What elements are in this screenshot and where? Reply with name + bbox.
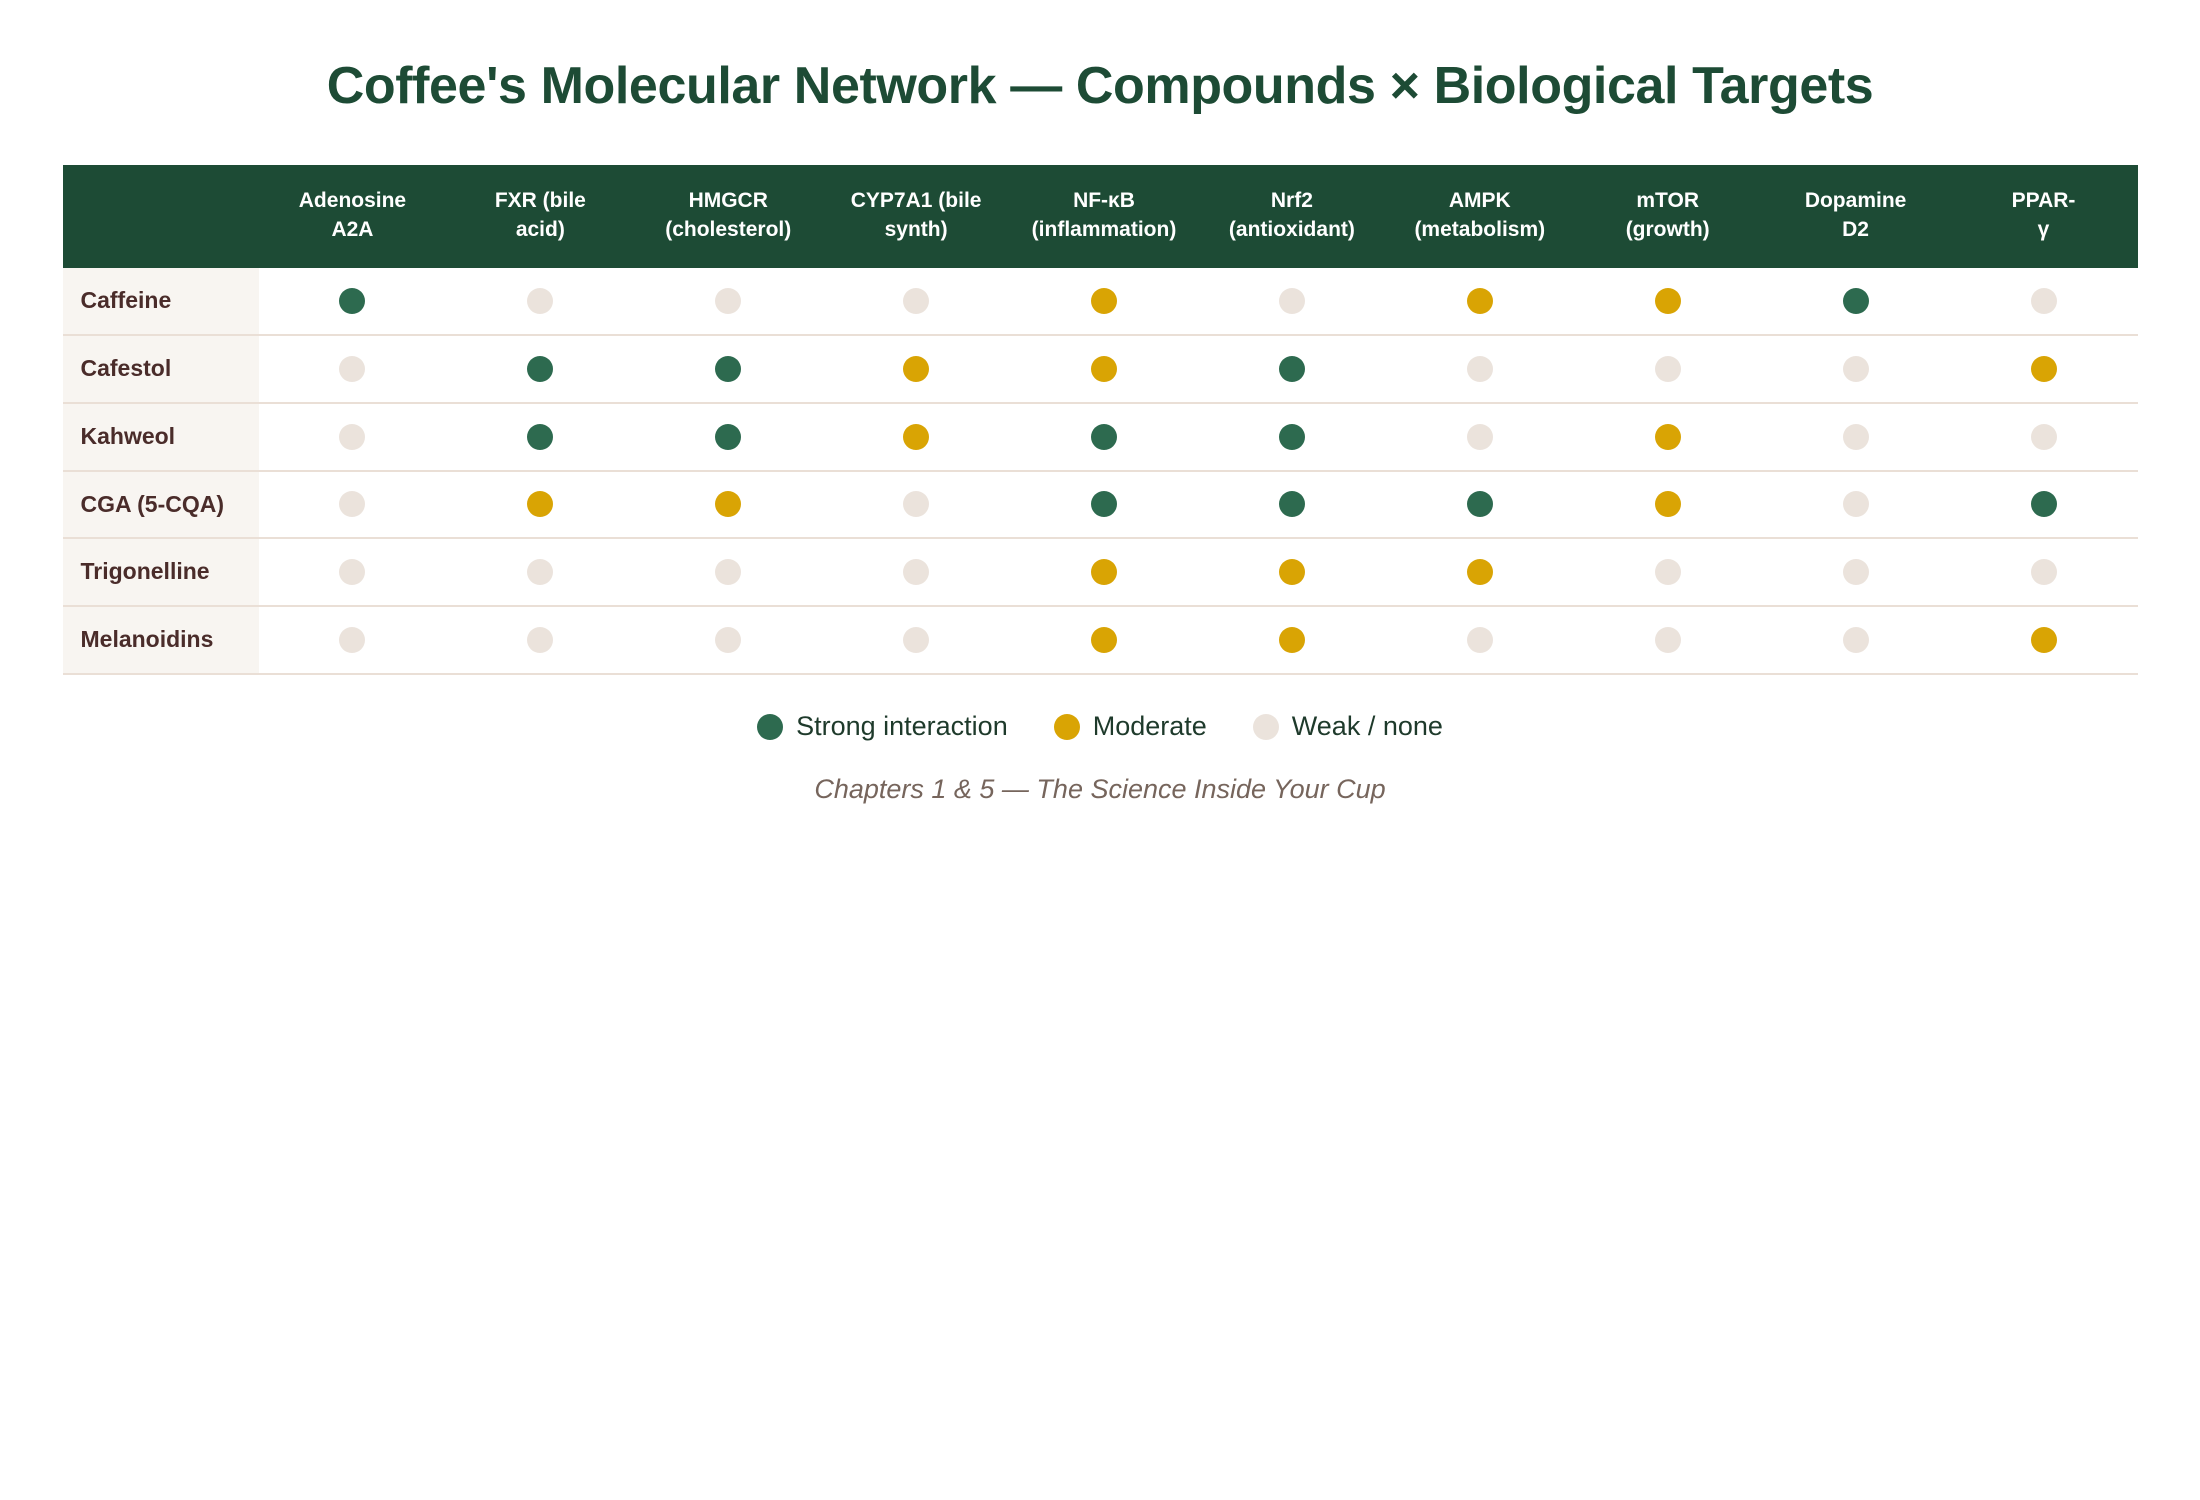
matrix-cell [1762,538,1950,606]
column-header-2: FXR (bileacid) [446,165,634,268]
matrix-cell [634,335,822,403]
interaction-dot-weak [2031,424,2057,450]
interaction-dot-moderate [1279,627,1305,653]
matrix-cell [1574,538,1762,606]
matrix-cell [446,538,634,606]
matrix-cell [1386,403,1574,471]
interaction-dot-moderate [1655,288,1681,314]
interaction-dot-weak [1843,491,1869,517]
matrix-cell [1574,403,1762,471]
interaction-dot-moderate [903,356,929,382]
header-row: AdenosineA2AFXR (bileacid)HMGCR(choleste… [63,165,2138,268]
interaction-dot-weak [715,288,741,314]
column-header-line2: (growth) [1582,216,1754,244]
matrix-cell [634,606,822,674]
matrix-cell [822,538,1010,606]
matrix-cell [634,268,822,335]
column-header-3: HMGCR(cholesterol) [634,165,822,268]
column-header-7: AMPK(metabolism) [1386,165,1574,268]
interaction-dot-moderate [1467,559,1493,585]
column-header-5: NF-κB(inflammation) [1010,165,1198,268]
interaction-dot-weak [2031,559,2057,585]
interaction-dot-moderate [2031,356,2057,382]
matrix-cell [1950,471,2138,539]
interaction-dot-strong [1279,491,1305,517]
interaction-dot-weak [2031,288,2057,314]
interaction-dot-strong [339,288,365,314]
interaction-dot-weak [1843,559,1869,585]
interaction-dot-weak [903,559,929,585]
matrix-cell [1574,335,1762,403]
legend: Strong interactionModerateWeak / none [63,711,2138,742]
page-title: Coffee's Molecular Network — Compounds ×… [0,0,2200,115]
interaction-dot-weak [1467,424,1493,450]
interaction-dot-moderate [1467,288,1493,314]
interaction-dot-weak [527,627,553,653]
matrix-cell [1950,403,2138,471]
column-header-line2: (antioxidant) [1206,216,1378,244]
interaction-dot-strong [1091,424,1117,450]
matrix-header: AdenosineA2AFXR (bileacid)HMGCR(choleste… [63,165,2138,268]
row-label-2: Cafestol [63,335,259,403]
figure-page: Coffee's Molecular Network — Compounds ×… [0,0,2200,1500]
interaction-dot-strong [527,424,553,450]
legend-item-strong: Strong interaction [757,711,1008,742]
legend-label: Moderate [1093,711,1207,742]
interaction-dot-moderate [2031,627,2057,653]
matrix-cell [259,403,447,471]
legend-swatch-weak-icon [1253,714,1279,740]
matrix-body: CaffeineCafestolKahweolCGA (5-CQA)Trigon… [63,268,2138,674]
matrix-cell [1386,268,1574,335]
matrix-container: AdenosineA2AFXR (bileacid)HMGCR(choleste… [63,115,2138,805]
interaction-dot-strong [1091,491,1117,517]
column-header-line2: (metabolism) [1394,216,1566,244]
matrix-cell [822,335,1010,403]
matrix-cell [446,606,634,674]
matrix-cell [1010,606,1198,674]
interaction-dot-weak [339,627,365,653]
matrix-cell [1574,268,1762,335]
matrix-cell [1950,335,2138,403]
table-row: Caffeine [63,268,2138,335]
matrix-cell [1010,268,1198,335]
matrix-cell [1386,335,1574,403]
matrix-cell [259,335,447,403]
matrix-cell [1198,606,1386,674]
column-header-line1: Nrf2 [1206,187,1378,215]
column-header-line2: γ [1958,216,2130,244]
interaction-dot-strong [2031,491,2057,517]
column-header-line1: Adenosine [267,187,439,215]
interaction-dot-weak [715,627,741,653]
matrix-cell [446,335,634,403]
interaction-dot-strong [715,424,741,450]
column-header-line2: acid) [454,216,626,244]
matrix-cell [1574,471,1762,539]
column-header-10: PPAR-γ [1950,165,2138,268]
interaction-dot-weak [339,356,365,382]
row-label-3: Kahweol [63,403,259,471]
interaction-dot-weak [1843,356,1869,382]
matrix-cell [1010,335,1198,403]
matrix-cell [822,268,1010,335]
matrix-cell [1762,335,1950,403]
matrix-cell [1010,403,1198,471]
interaction-dot-moderate [1091,288,1117,314]
matrix-cell [1386,471,1574,539]
row-label-1: Caffeine [63,268,259,335]
interaction-dot-weak [527,559,553,585]
interaction-dot-strong [1279,424,1305,450]
column-header-line1: HMGCR [642,187,814,215]
legend-swatch-moderate-icon [1054,714,1080,740]
table-row: Cafestol [63,335,2138,403]
matrix-cell [822,606,1010,674]
interaction-dot-weak [339,559,365,585]
column-header-6: Nrf2(antioxidant) [1198,165,1386,268]
interaction-dot-strong [1843,288,1869,314]
interaction-dot-strong [1467,491,1493,517]
matrix-cell [1950,268,2138,335]
interaction-dot-strong [715,356,741,382]
interaction-dot-strong [1279,356,1305,382]
column-header-line2: A2A [267,216,439,244]
column-header-line1: CYP7A1 (bile [830,187,1002,215]
matrix-cell [1386,606,1574,674]
column-header-9: DopamineD2 [1762,165,1950,268]
interaction-dot-weak [903,491,929,517]
matrix-cell [259,471,447,539]
column-header-1: AdenosineA2A [259,165,447,268]
table-row: Trigonelline [63,538,2138,606]
legend-item-moderate: Moderate [1054,711,1207,742]
matrix-cell [1198,268,1386,335]
interaction-dot-moderate [1279,559,1305,585]
matrix-cell [446,403,634,471]
column-header-4: CYP7A1 (bilesynth) [822,165,1010,268]
figure-footnote: Chapters 1 & 5 — The Science Inside Your… [63,774,2138,805]
matrix-cell [822,403,1010,471]
column-header-line2: (cholesterol) [642,216,814,244]
matrix-cell [1010,538,1198,606]
matrix-cell [446,471,634,539]
row-label-4: CGA (5-CQA) [63,471,259,539]
column-header-line1: AMPK [1394,187,1566,215]
interaction-dot-weak [1467,627,1493,653]
interaction-dot-weak [1843,424,1869,450]
interaction-dot-moderate [1655,491,1681,517]
row-label-5: Trigonelline [63,538,259,606]
matrix-cell [1198,335,1386,403]
interaction-dot-weak [339,491,365,517]
matrix-cell [1762,606,1950,674]
matrix-cell [1198,471,1386,539]
interaction-dot-moderate [1091,627,1117,653]
interaction-dot-weak [903,627,929,653]
table-row: Kahweol [63,403,2138,471]
matrix-cell [1762,471,1950,539]
matrix-cell [446,268,634,335]
column-header-line1: FXR (bile [454,187,626,215]
interaction-dot-moderate [715,491,741,517]
matrix-cell [1198,538,1386,606]
interaction-dot-weak [527,288,553,314]
interaction-dot-moderate [527,491,553,517]
legend-label: Weak / none [1292,711,1443,742]
table-row: CGA (5-CQA) [63,471,2138,539]
interaction-dot-moderate [903,424,929,450]
interaction-dot-weak [715,559,741,585]
interaction-dot-weak [1655,559,1681,585]
column-header-line2: synth) [830,216,1002,244]
interaction-dot-weak [1655,356,1681,382]
interaction-dot-moderate [1091,356,1117,382]
table-row: Melanoidins [63,606,2138,674]
column-header-line2: D2 [1770,216,1942,244]
matrix-cell [634,538,822,606]
interaction-dot-moderate [1091,559,1117,585]
interaction-dot-moderate [1655,424,1681,450]
matrix-cell [1762,268,1950,335]
interaction-dot-strong [527,356,553,382]
interaction-dot-weak [339,424,365,450]
legend-item-weak: Weak / none [1253,711,1443,742]
interaction-dot-weak [1467,356,1493,382]
corner-cell [63,165,259,268]
matrix-cell [822,471,1010,539]
column-header-line1: mTOR [1582,187,1754,215]
interaction-dot-weak [1843,627,1869,653]
column-header-line1: NF-κB [1018,187,1190,215]
matrix-cell [1950,538,2138,606]
legend-label: Strong interaction [796,711,1008,742]
column-header-line1: PPAR- [1958,187,2130,215]
matrix-cell [1762,403,1950,471]
matrix-cell [259,538,447,606]
interaction-dot-weak [1655,627,1681,653]
column-header-line2: (inflammation) [1018,216,1190,244]
row-label-6: Melanoidins [63,606,259,674]
column-header-line1: Dopamine [1770,187,1942,215]
matrix-cell [259,606,447,674]
matrix-cell [1386,538,1574,606]
interaction-dot-weak [1279,288,1305,314]
matrix-cell [1010,471,1198,539]
matrix-cell [634,471,822,539]
matrix-cell [1950,606,2138,674]
matrix-cell [259,268,447,335]
column-header-8: mTOR(growth) [1574,165,1762,268]
matrix-cell [634,403,822,471]
compound-target-matrix: AdenosineA2AFXR (bileacid)HMGCR(choleste… [63,165,2138,675]
matrix-cell [1198,403,1386,471]
matrix-cell [1574,606,1762,674]
interaction-dot-weak [903,288,929,314]
legend-swatch-strong-icon [757,714,783,740]
